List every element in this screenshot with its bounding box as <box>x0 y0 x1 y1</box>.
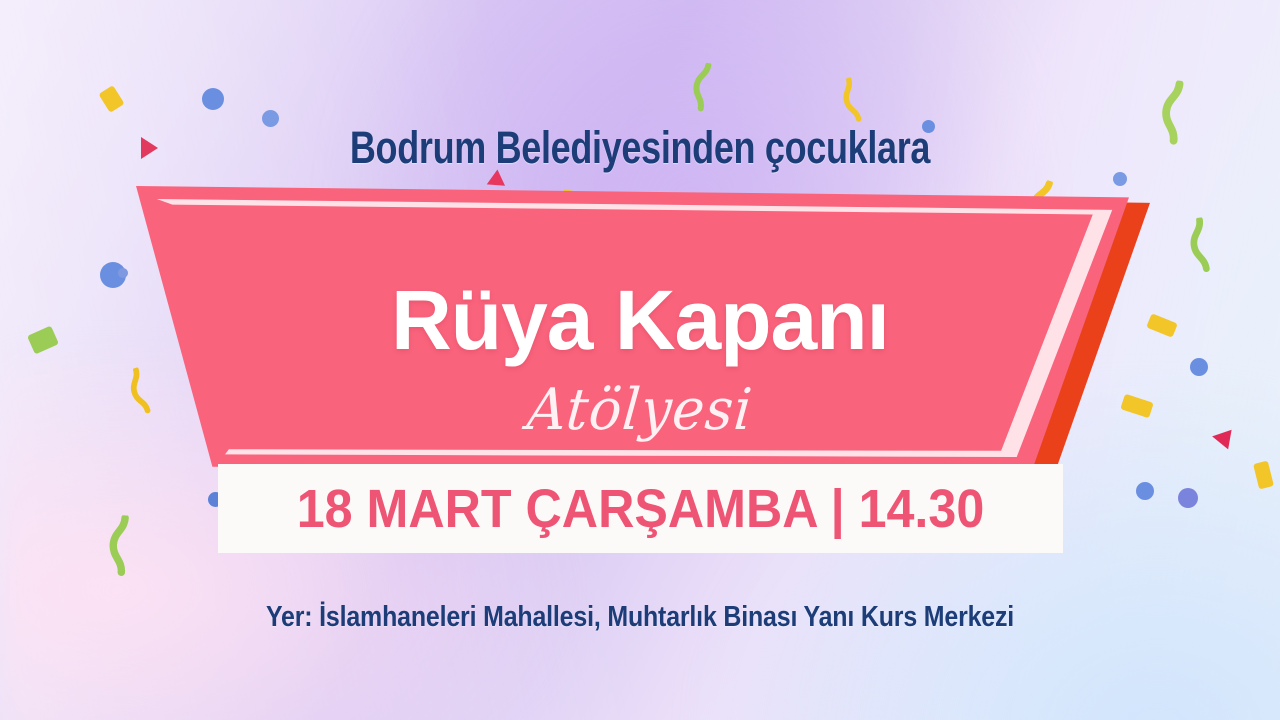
poster-subtitle: Atölyesi <box>0 376 1280 443</box>
poster-title: Rüya Kapanı <box>0 272 1280 369</box>
event-date-time: 18 MART ÇARŞAMBA | 14.30 <box>248 464 1034 553</box>
event-poster: Bodrum Belediyesinden çocuklara Rüya Kap… <box>0 0 1280 720</box>
event-venue: Yer: İslamhaneleri Mahallesi, Muhtarlık … <box>90 601 1191 634</box>
